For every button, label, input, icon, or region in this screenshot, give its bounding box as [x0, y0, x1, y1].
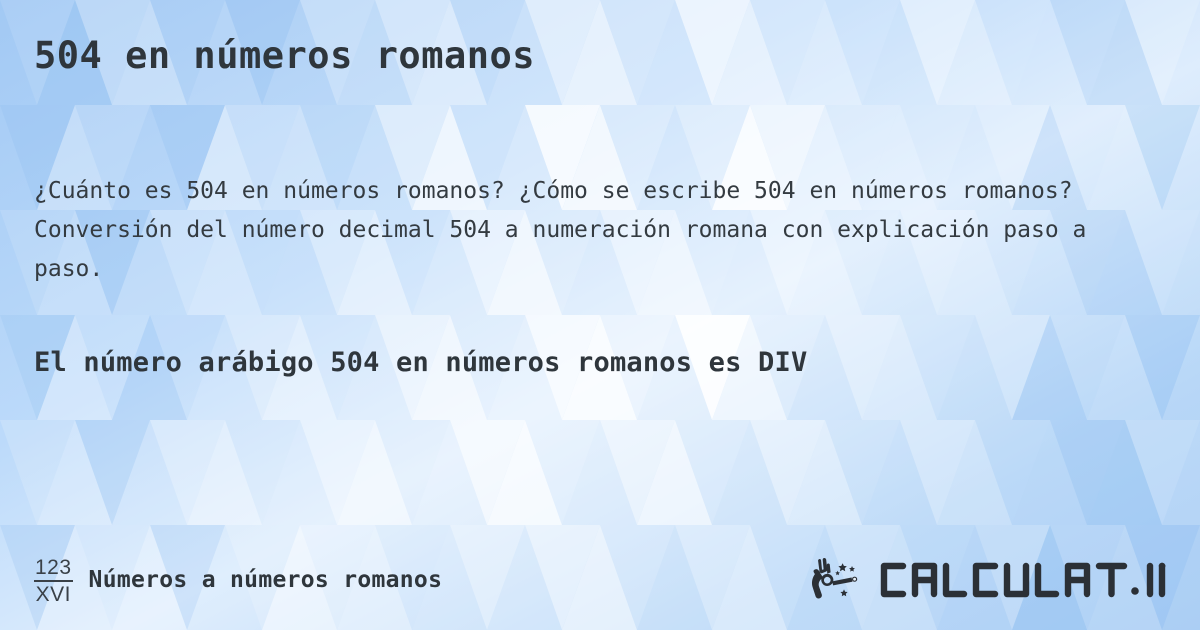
magic-wand-hand-icon	[808, 557, 866, 603]
footer: 123 XVI Números a números romanos	[0, 538, 1200, 630]
og-card: 504 en números romanos ¿Cuánto es 504 en…	[0, 0, 1200, 630]
footer-section-label: Números a números romanos	[89, 567, 443, 593]
page-content: 504 en números romanos ¿Cuánto es 504 en…	[0, 0, 1200, 630]
answer-statement: El número arábigo 504 en números romanos…	[34, 346, 1169, 380]
footer-calculatio-brand[interactable]	[808, 557, 1166, 603]
calculatio-wordmark	[874, 558, 1166, 602]
fraction-numerator: 123	[34, 557, 73, 582]
fraction-denominator: XVI	[36, 582, 71, 605]
page-title: 504 en números romanos	[34, 34, 535, 77]
intro-description: ¿Cuánto es 504 en números romanos? ¿Cómo…	[34, 172, 1154, 289]
fraction-123-xvi-logo-icon: 123 XVI	[34, 555, 73, 605]
footer-site-brand[interactable]: 123 XVI Números a números romanos	[34, 555, 442, 605]
